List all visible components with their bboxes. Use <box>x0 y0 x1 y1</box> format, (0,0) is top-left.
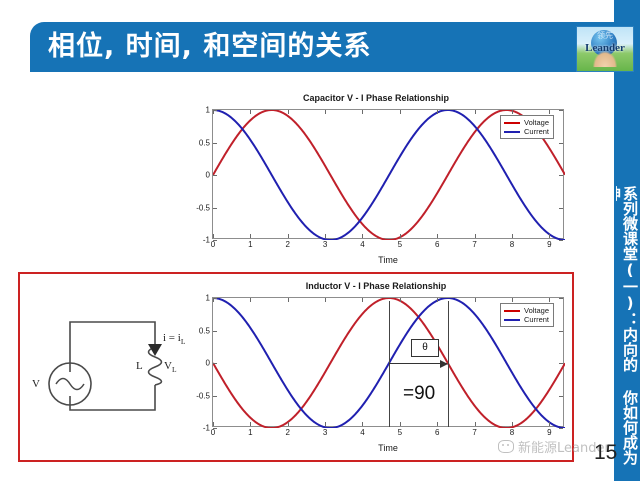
circuit-svg <box>30 300 180 425</box>
x-axis-tick <box>213 110 214 114</box>
x-axis-title: Time <box>212 255 564 265</box>
legend-item-voltage: Voltage <box>504 118 549 127</box>
x-axis-tick <box>362 234 363 238</box>
page-title: 相位, 时间, 和空间的关系 <box>48 29 371 65</box>
phase-marker-line-left <box>389 301 390 427</box>
legend-label-voltage: Voltage <box>524 118 549 127</box>
y-axis-tick <box>559 240 563 241</box>
x-axis-tick <box>325 110 326 114</box>
y-axis-label: 0.5 <box>199 138 210 147</box>
x-axis-tick <box>288 110 289 114</box>
x-axis-tick <box>250 110 251 114</box>
y-axis-tick <box>213 143 217 144</box>
legend-item-current: Current <box>504 127 549 136</box>
legend-item-voltage: Voltage <box>504 306 549 315</box>
legend-item-current: Current <box>504 315 549 324</box>
current-color-swatch <box>504 319 520 321</box>
source-label: V <box>32 378 40 390</box>
circuit-diagram: V L VL i = iL <box>30 300 180 425</box>
wechat-icon <box>498 440 514 453</box>
logo-cjk-text: 领先 <box>577 30 633 41</box>
x-axis-tick <box>475 234 476 238</box>
phase-value-label: =90 <box>403 383 435 405</box>
x-axis-tick <box>512 110 513 114</box>
x-axis-label: 5 <box>398 240 402 249</box>
title-bottom-notch <box>0 72 294 96</box>
y-axis-label: -1 <box>203 236 210 245</box>
chart-legend: Voltage Current <box>500 115 554 139</box>
x-axis-tick <box>475 110 476 114</box>
x-axis-tick <box>512 234 513 238</box>
voltage-color-swatch <box>504 310 520 312</box>
y-axis-label: 1 <box>206 106 210 115</box>
x-axis-label: 1 <box>248 240 252 249</box>
phase-arrow <box>389 363 447 364</box>
y-axis-tick <box>559 110 563 111</box>
x-axis-tick <box>549 110 550 114</box>
page-number: 15 <box>594 441 617 465</box>
y-axis-tick <box>213 175 217 176</box>
x-axis-label: 6 <box>435 240 439 249</box>
legend-label-current: Current <box>524 127 549 136</box>
x-axis-tick <box>213 234 214 238</box>
x-axis-label: 3 <box>323 240 327 249</box>
inductor-label: L <box>136 360 143 372</box>
current-label: i = iL <box>163 332 185 346</box>
x-axis-label: 8 <box>510 240 514 249</box>
voltage-color-swatch <box>504 122 520 124</box>
title-bar: 相位, 时间, 和空间的关系 领先 Leander <box>30 22 640 72</box>
x-axis-label: 9 <box>547 240 551 249</box>
x-axis-tick <box>250 234 251 238</box>
phase-marker-line-right <box>448 301 449 427</box>
x-axis-tick <box>325 234 326 238</box>
x-axis-tick <box>549 234 550 238</box>
y-axis-label: 0 <box>206 171 210 180</box>
x-axis-tick <box>400 110 401 114</box>
x-axis-tick <box>288 234 289 238</box>
x-axis-label: 2 <box>286 240 290 249</box>
x-axis-label: 0 <box>211 240 215 249</box>
current-color-swatch <box>504 131 520 133</box>
y-axis-label: -0.5 <box>196 203 210 212</box>
legend-label-voltage: Voltage <box>524 306 549 315</box>
y-axis-tick <box>559 143 563 144</box>
slide: 系列微课堂(一)：内向的 你如何成为神 相位, 时间, 和空间的关系 领先 Le… <box>0 0 640 481</box>
y-axis-tick <box>559 208 563 209</box>
chart-legend: Voltage Current <box>500 303 554 327</box>
logo-name: Leander <box>577 42 633 54</box>
y-axis-tick <box>559 175 563 176</box>
x-axis-label: 7 <box>472 240 476 249</box>
leander-logo: 领先 Leander <box>576 26 634 72</box>
x-axis-tick <box>400 234 401 238</box>
x-axis-tick <box>362 110 363 114</box>
x-axis-tick <box>437 234 438 238</box>
legend-label-current: Current <box>524 315 549 324</box>
inductor-voltage-label: VL <box>164 360 177 374</box>
theta-label-box: θ <box>411 339 439 357</box>
side-vertical-text: 系列微课堂(一)：内向的 你如何成为神 <box>616 186 638 476</box>
x-axis-tick <box>437 110 438 114</box>
x-axis-label: 4 <box>360 240 364 249</box>
chart-capacitor: Capacitor V - I Phase Relationship 10.50… <box>176 93 576 273</box>
title-left-mask <box>0 22 30 72</box>
y-axis-tick <box>213 208 217 209</box>
